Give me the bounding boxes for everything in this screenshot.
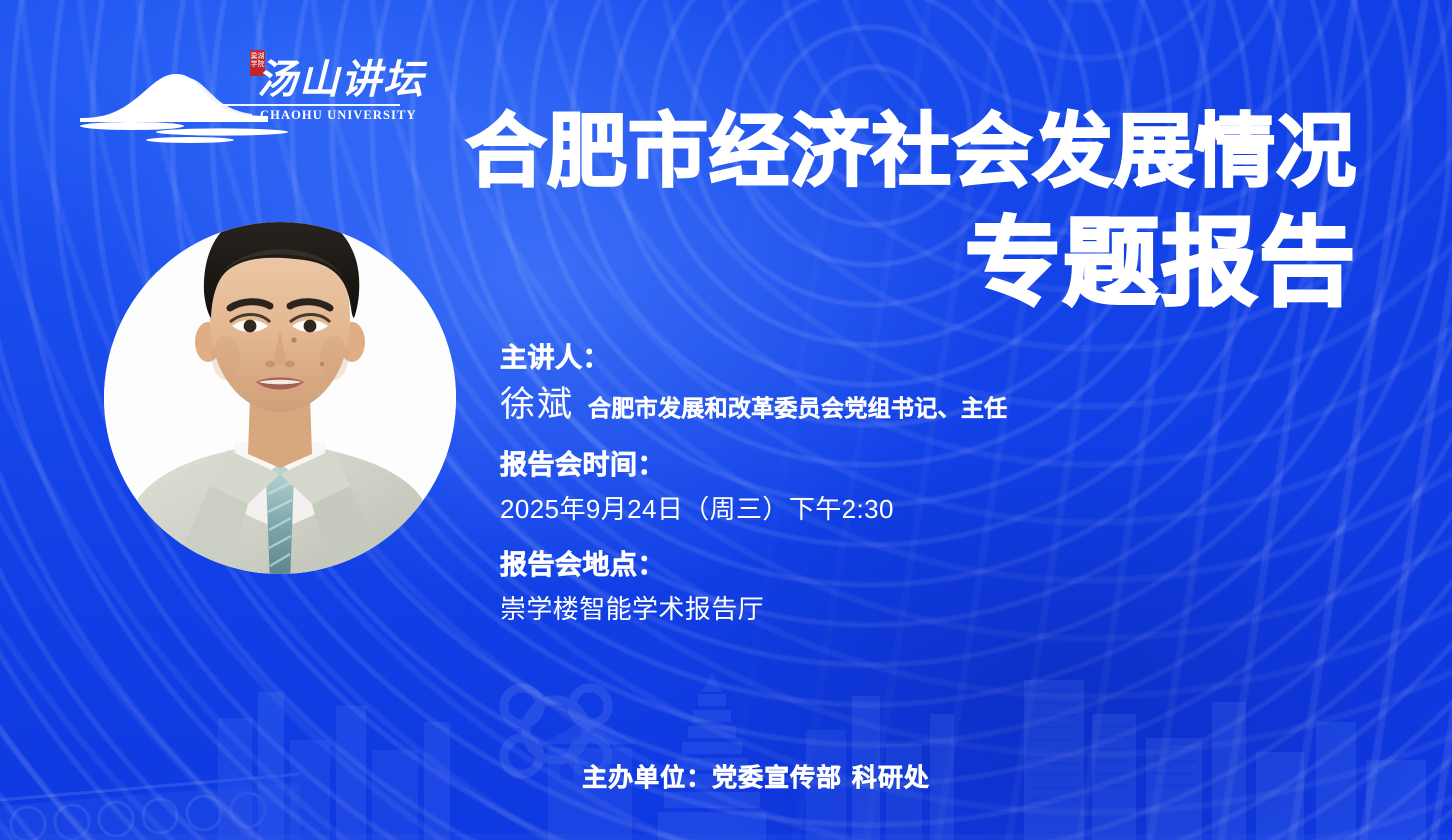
event-details: 主讲人： 徐斌 合肥市发展和改革委员会党组书记、主任 报告会时间： 2025年9… [500, 342, 1380, 627]
city-skyline-decoration [0, 610, 1452, 840]
page-title-line2: 专题报告 [420, 215, 1357, 313]
place-value: 崇学楼智能学术报告厅 [500, 592, 1380, 627]
speaker-avatar [104, 222, 456, 574]
logo-chinese-name: 汤山讲坛 [257, 60, 425, 100]
poster-title-block: 合肥市经济社会发展情况 专题报告 [420, 110, 1357, 313]
event-poster: 巢湖学院 汤山讲坛 CHAOHU UNIVERSITY 合肥市经济社会发展情况 … [0, 0, 1452, 840]
time-label: 报告会时间： [500, 449, 1380, 483]
place-label: 报告会地点： [500, 549, 1380, 583]
avatar-circle-mask [104, 222, 456, 574]
organizers-footer: 主办单位：党委宣传部 科研处 [0, 758, 1452, 794]
speaker-row: 徐斌 合肥市发展和改革委员会党组书记、主任 [500, 386, 1380, 425]
time-value: 2025年9月24日（周三）下午2:30 [500, 492, 1380, 527]
speaker-name: 徐斌 [500, 386, 574, 425]
speaker-position: 合肥市发展和改革委员会党组书记、主任 [588, 389, 1007, 423]
speaker-portrait-illustration [104, 222, 456, 574]
page-title-line1: 合肥市经济社会发展情况 [420, 110, 1357, 193]
chaohu-university-logo: 巢湖学院 汤山讲坛 CHAOHU UNIVERSITY [72, 52, 412, 150]
speaker-label: 主讲人： [500, 342, 1380, 376]
logo-divider-line [182, 104, 400, 106]
logo-english-name: CHAOHU UNIVERSITY [260, 108, 417, 123]
